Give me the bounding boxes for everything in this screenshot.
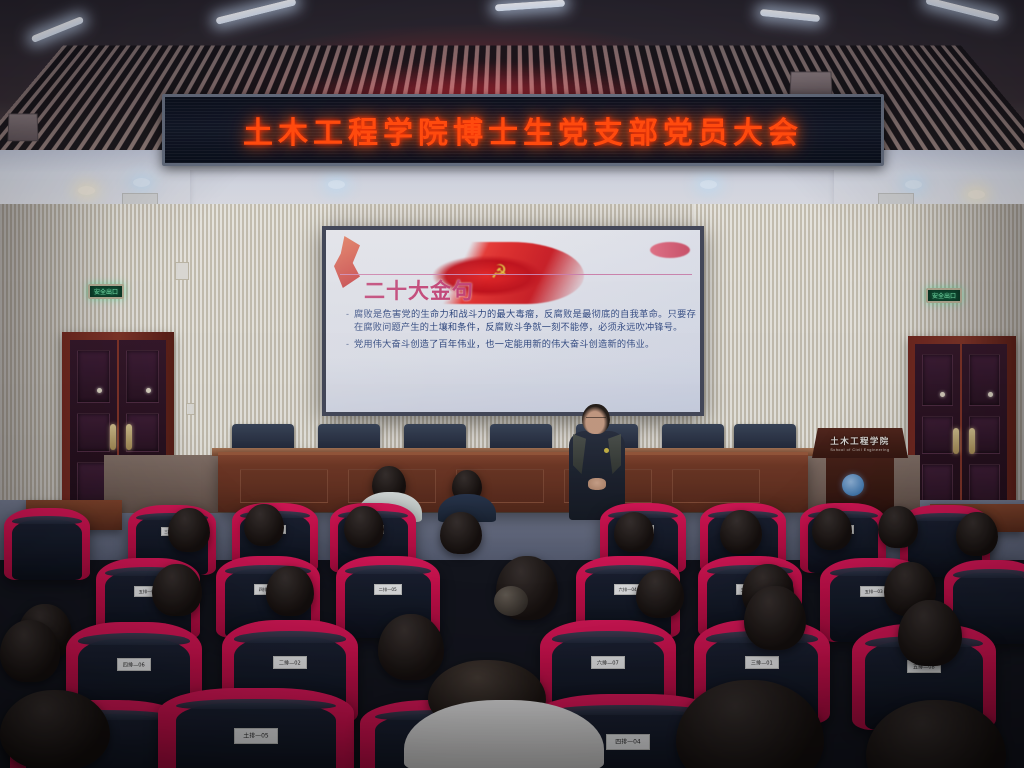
university-emblem-icon [842, 474, 864, 496]
recessed-downlight [905, 180, 922, 189]
audience-head [878, 506, 918, 548]
seat-cushion [12, 520, 83, 580]
seat-number-plate: 二排—05 [374, 584, 402, 595]
wall-outlet-plate[interactable] [186, 403, 195, 415]
slide-bullet-list: - 腐败是危害党的生命力和战斗力的最大毒瘤，反腐败是最彻底的自我革命。只要存在腐… [346, 308, 696, 356]
speaker-person [566, 404, 628, 520]
audience-head [266, 566, 314, 616]
hair-clip [494, 586, 528, 616]
lectern-nameplate: 土木工程学院 School of Civil Engineering [812, 428, 908, 458]
door-handle[interactable] [126, 424, 132, 450]
bullet-dash-icon: - [346, 338, 349, 351]
slide-title: 二十大金句 [364, 275, 474, 305]
slide-decoration-right-icon [650, 242, 690, 258]
audience-head [244, 504, 284, 546]
audience-head [636, 570, 684, 618]
audience-head [744, 586, 806, 650]
seat-headrest-band [552, 631, 664, 642]
speaker-badge [604, 448, 609, 453]
recessed-downlight [328, 180, 345, 189]
door-panel [922, 354, 954, 406]
seat-number-text: 六排—07 [597, 659, 619, 667]
exit-sign-left-label: 安全出口 [94, 287, 118, 296]
presidium-table [218, 452, 808, 512]
exit-sign-right: 安全出口 [926, 288, 962, 303]
glasses-icon [586, 417, 606, 422]
slide-bullet-text: 党用伟大奋斗创造了百年伟业，也一定能用新的伟大奋斗创造新的伟业。 [354, 338, 654, 351]
lectern-name-cn: 土木工程学院 [830, 435, 889, 447]
slide-bullet-item: - 腐败是危害党的生命力和战斗力的最大毒瘤，反腐败是最彻底的自我革命。只要存在腐… [346, 308, 696, 334]
seat-number-plate: 六排—07 [591, 656, 625, 669]
seat-headrest-band [234, 631, 346, 642]
audience-head [898, 600, 962, 666]
lectern: 土木工程学院 School of Civil Engineering [812, 428, 908, 514]
door-handle[interactable] [969, 428, 975, 454]
slide-bullet-text: 腐败是危害党的生命力和战斗力的最大毒瘤，反腐败是最彻底的自我革命。只要存在腐败问… [354, 308, 696, 334]
recessed-downlight [133, 178, 150, 187]
exit-sign-left: 安全出口 [88, 284, 124, 299]
seat-headrest-band [345, 565, 430, 574]
seat-number-plate: 二排—02 [273, 656, 307, 669]
seat-headrest-band [12, 516, 83, 524]
seat-number-text: 土排—05 [243, 732, 268, 741]
audience-head [152, 564, 202, 616]
seat-number-text: 六排—04 [619, 587, 637, 593]
presentation-slide: ☭ 二十大金句 - 腐败是危害党的生命力和战斗力的最大毒瘤，反腐败是最彻底的自我… [326, 230, 700, 412]
seat-number-text: 四排—04 [615, 738, 640, 747]
door-handle[interactable] [953, 428, 959, 454]
door-handle[interactable] [110, 424, 116, 450]
bullet-dash-icon: - [346, 308, 349, 334]
seat-number-text: 四排—06 [123, 661, 145, 669]
door-panel [77, 413, 110, 452]
seat-headrest-band [78, 633, 190, 644]
projection-screen-frame: ☭ 二十大金句 - 腐败是危害党的生命力和战斗力的最大毒瘤，反腐败是最彻底的自我… [322, 226, 704, 416]
presidium-panel [672, 469, 760, 503]
seat-number-text: 三排—01 [751, 659, 773, 667]
seat-number-plate: 三排—01 [745, 656, 779, 669]
slide-bullet-item: - 党用伟大奋斗创造了百年伟业，也一定能用新的伟大奋斗创造新的伟业。 [346, 338, 696, 351]
auditorium-photo: 土木工程学院博士生党支部党员大会 安全出口 安全出口 [0, 0, 1024, 768]
door-panel [969, 354, 1001, 406]
auditorium-seat[interactable] [4, 508, 90, 580]
audience-head [614, 512, 654, 552]
door-panel [922, 416, 954, 454]
auditorium-seat[interactable]: 土排—05 [158, 688, 354, 768]
seat-headrest-band [953, 569, 1024, 578]
audience-head [956, 512, 998, 556]
seat-number-plate: 四排—04 [606, 734, 650, 750]
hammer-sickle-icon: ☭ [488, 262, 510, 284]
seat-number-plate: 土排—05 [234, 728, 278, 744]
led-banner-text: 土木工程学院博士生党支部党员大会 [243, 108, 803, 152]
audience-head-foreground [0, 690, 110, 768]
led-banner: 土木工程学院博士生党支部党员大会 [162, 94, 884, 166]
audience-head [168, 508, 210, 552]
audience-head [378, 614, 444, 680]
door-panel [126, 350, 159, 403]
exit-sign-right-label: 安全出口 [932, 291, 956, 300]
ceiling-air-vent [8, 113, 39, 141]
slide-decoration-left-icon [334, 236, 360, 288]
door-peephole [97, 388, 102, 393]
door-peephole [146, 388, 151, 393]
seat-number-text: 二排—05 [379, 587, 397, 593]
audience-head [720, 510, 762, 554]
presidium-panel [240, 469, 328, 503]
wall-switch-plate[interactable] [175, 262, 189, 280]
door-panel [77, 350, 110, 403]
seat-number-plate: 四排—06 [117, 658, 151, 671]
door-peephole [988, 392, 993, 397]
door-peephole [940, 392, 945, 397]
audience-head [812, 508, 852, 550]
seat-number-text: 五排—03 [865, 589, 883, 595]
lectern-name-en: School of Civil Engineering [830, 448, 889, 452]
seat-number-text: 二排—02 [279, 659, 301, 667]
recessed-downlight [968, 190, 985, 199]
audience-head [344, 506, 384, 548]
audience-head [0, 620, 60, 682]
audience-head [440, 512, 482, 554]
recessed-downlight [78, 186, 95, 195]
seat-headrest-band [176, 699, 337, 710]
recessed-downlight [700, 180, 717, 189]
speaker-hands [588, 478, 606, 490]
